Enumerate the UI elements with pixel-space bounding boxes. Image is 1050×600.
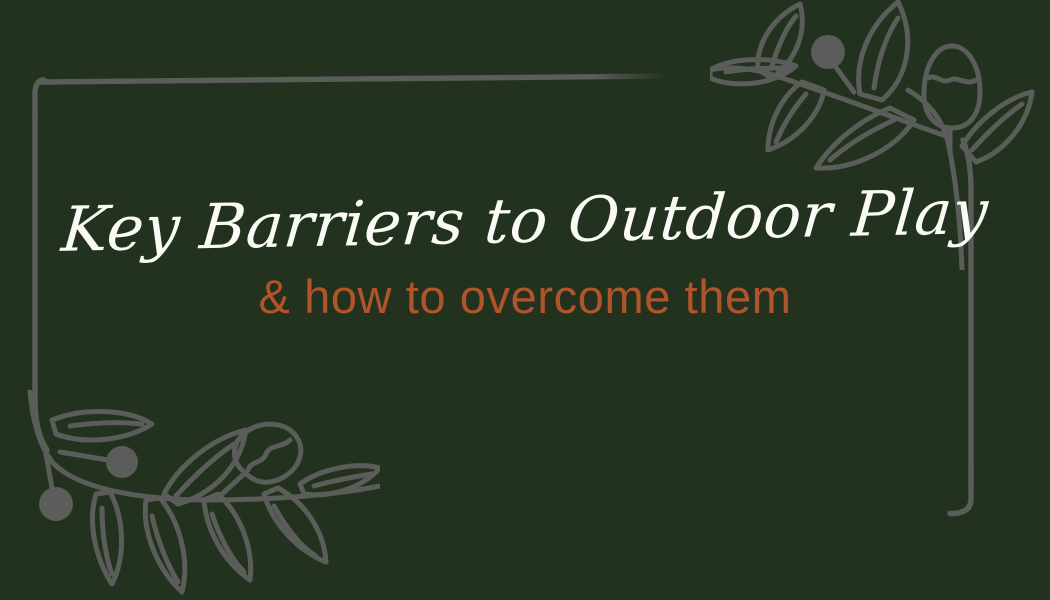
olive-branch-sprig-bottom-left <box>0 390 380 600</box>
leaf-vein <box>874 18 898 88</box>
leaf-vein <box>314 474 372 486</box>
berry-stem <box>46 454 52 488</box>
leaf-vein <box>70 423 142 426</box>
leaf <box>710 60 796 84</box>
leaf <box>204 494 251 580</box>
poster-canvas: Key Barriers to Outdoor Play & how to ov… <box>0 0 1050 600</box>
bud <box>234 424 300 482</box>
leaf <box>816 108 914 168</box>
leaf-vein <box>212 514 244 572</box>
bud-stem <box>222 474 244 494</box>
stem <box>30 390 380 500</box>
leaf-vein <box>972 104 1022 150</box>
berry-stem <box>832 62 854 92</box>
bud <box>924 46 980 128</box>
frame-top-line <box>40 76 668 82</box>
leaf-vein <box>176 444 234 496</box>
leaf-vein <box>772 16 796 66</box>
berry-stem <box>60 452 108 460</box>
leaf <box>264 488 326 562</box>
page-subtitle: & how to overcome them <box>0 271 1050 323</box>
leaf <box>758 4 802 78</box>
leaf <box>859 2 908 100</box>
berry <box>811 35 845 69</box>
leaf <box>93 492 122 584</box>
page-title: Key Barriers to Outdoor Play <box>0 176 1050 266</box>
title-group: Key Barriers to Outdoor Play & how to ov… <box>0 186 1050 323</box>
bud-detail <box>248 440 290 470</box>
leaf-vein <box>776 94 806 142</box>
leaf <box>164 430 246 504</box>
bud-detail <box>928 77 976 82</box>
leaf <box>300 466 380 495</box>
leaf-vein <box>152 516 178 582</box>
leaf <box>962 92 1032 162</box>
leaf-vein <box>726 68 788 72</box>
berry <box>106 446 138 478</box>
leaf <box>145 498 184 592</box>
leaf <box>52 411 152 440</box>
stem-branch <box>710 68 946 136</box>
frame-corner-bottom-right <box>950 470 971 514</box>
frame-corner-top-left <box>35 80 44 120</box>
leaf-vein <box>830 120 894 160</box>
berry <box>39 487 73 521</box>
leaf <box>768 82 824 150</box>
leaf-vein <box>102 508 112 574</box>
leaf-vein <box>274 506 316 556</box>
